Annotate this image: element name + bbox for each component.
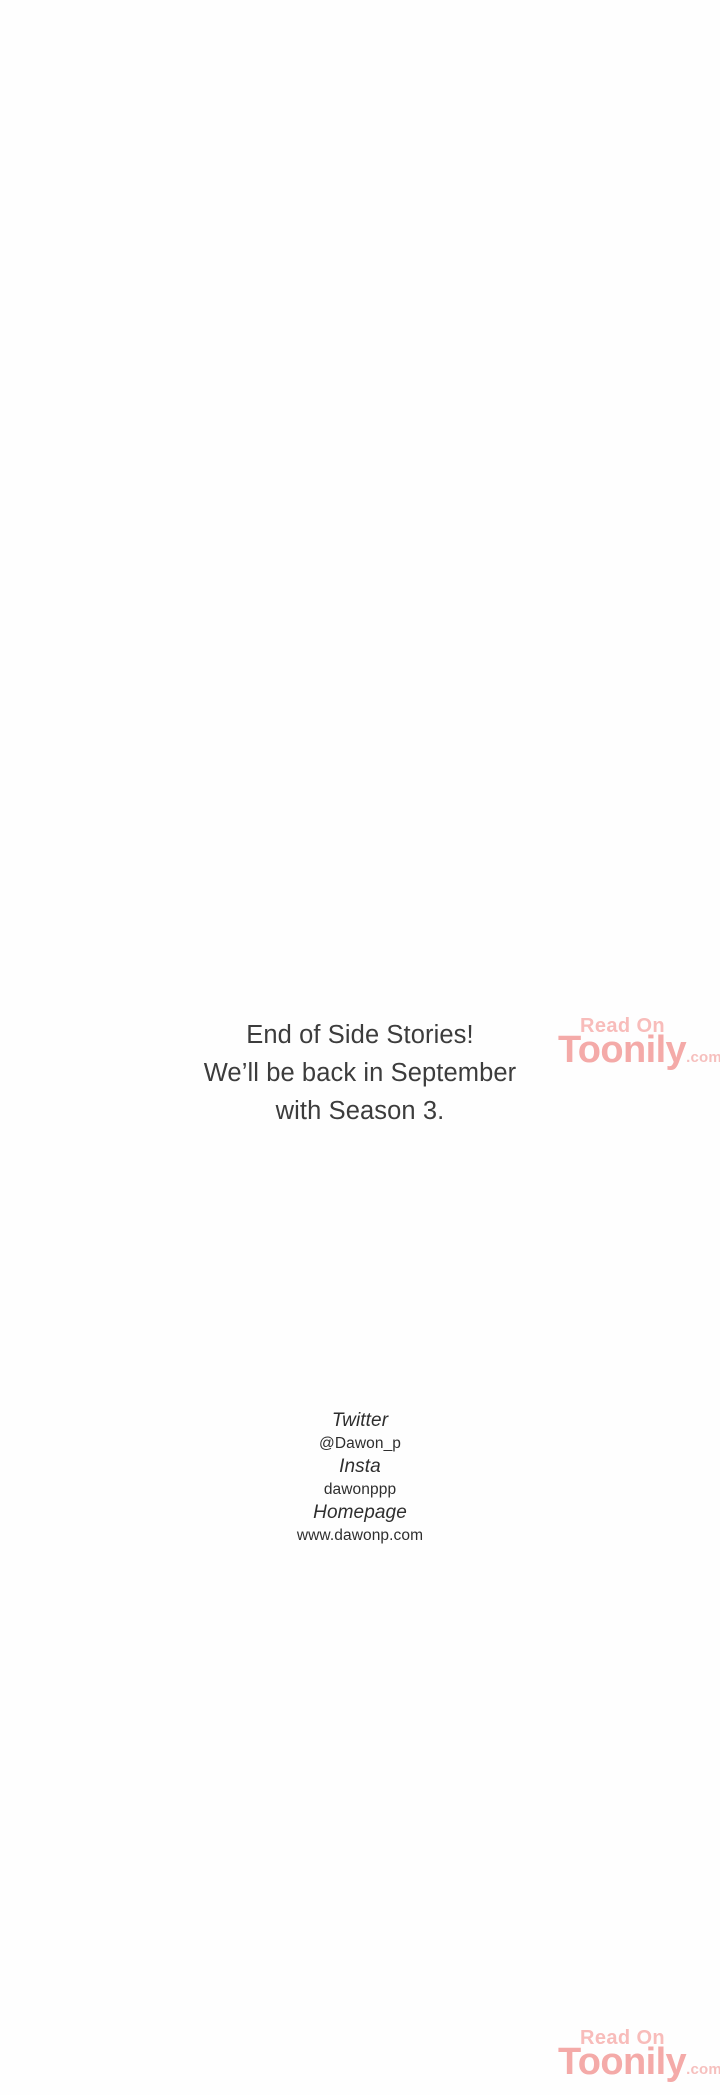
end-of-season-announcement: End of Side Stories! We’ll be back in Se…	[0, 1016, 720, 1130]
announcement-line-3: with Season 3.	[0, 1092, 720, 1130]
watermark-tld: .com	[686, 2061, 720, 2078]
comic-page: End of Side Stories! We’ll be back in Se…	[0, 0, 720, 2095]
watermark-brand-text: Toonily.com	[558, 2043, 720, 2081]
watermark-read-on-text: Read On	[558, 2028, 720, 2048]
insta-handle: dawonppp	[0, 1479, 720, 1500]
artist-credits: Twitter @Dawon_p Insta dawonppp Homepage…	[0, 1408, 720, 1546]
watermark-brand-name: Toonily	[558, 2041, 686, 2083]
toonily-watermark-bottom: Read On Toonily.com	[558, 2028, 720, 2081]
insta-label: Insta	[0, 1454, 720, 1479]
twitter-handle: @Dawon_p	[0, 1433, 720, 1454]
twitter-label: Twitter	[0, 1408, 720, 1433]
homepage-label: Homepage	[0, 1500, 720, 1525]
announcement-line-1: End of Side Stories!	[0, 1016, 720, 1054]
announcement-line-2: We’ll be back in September	[0, 1054, 720, 1092]
homepage-url: www.dawonp.com	[0, 1525, 720, 1546]
